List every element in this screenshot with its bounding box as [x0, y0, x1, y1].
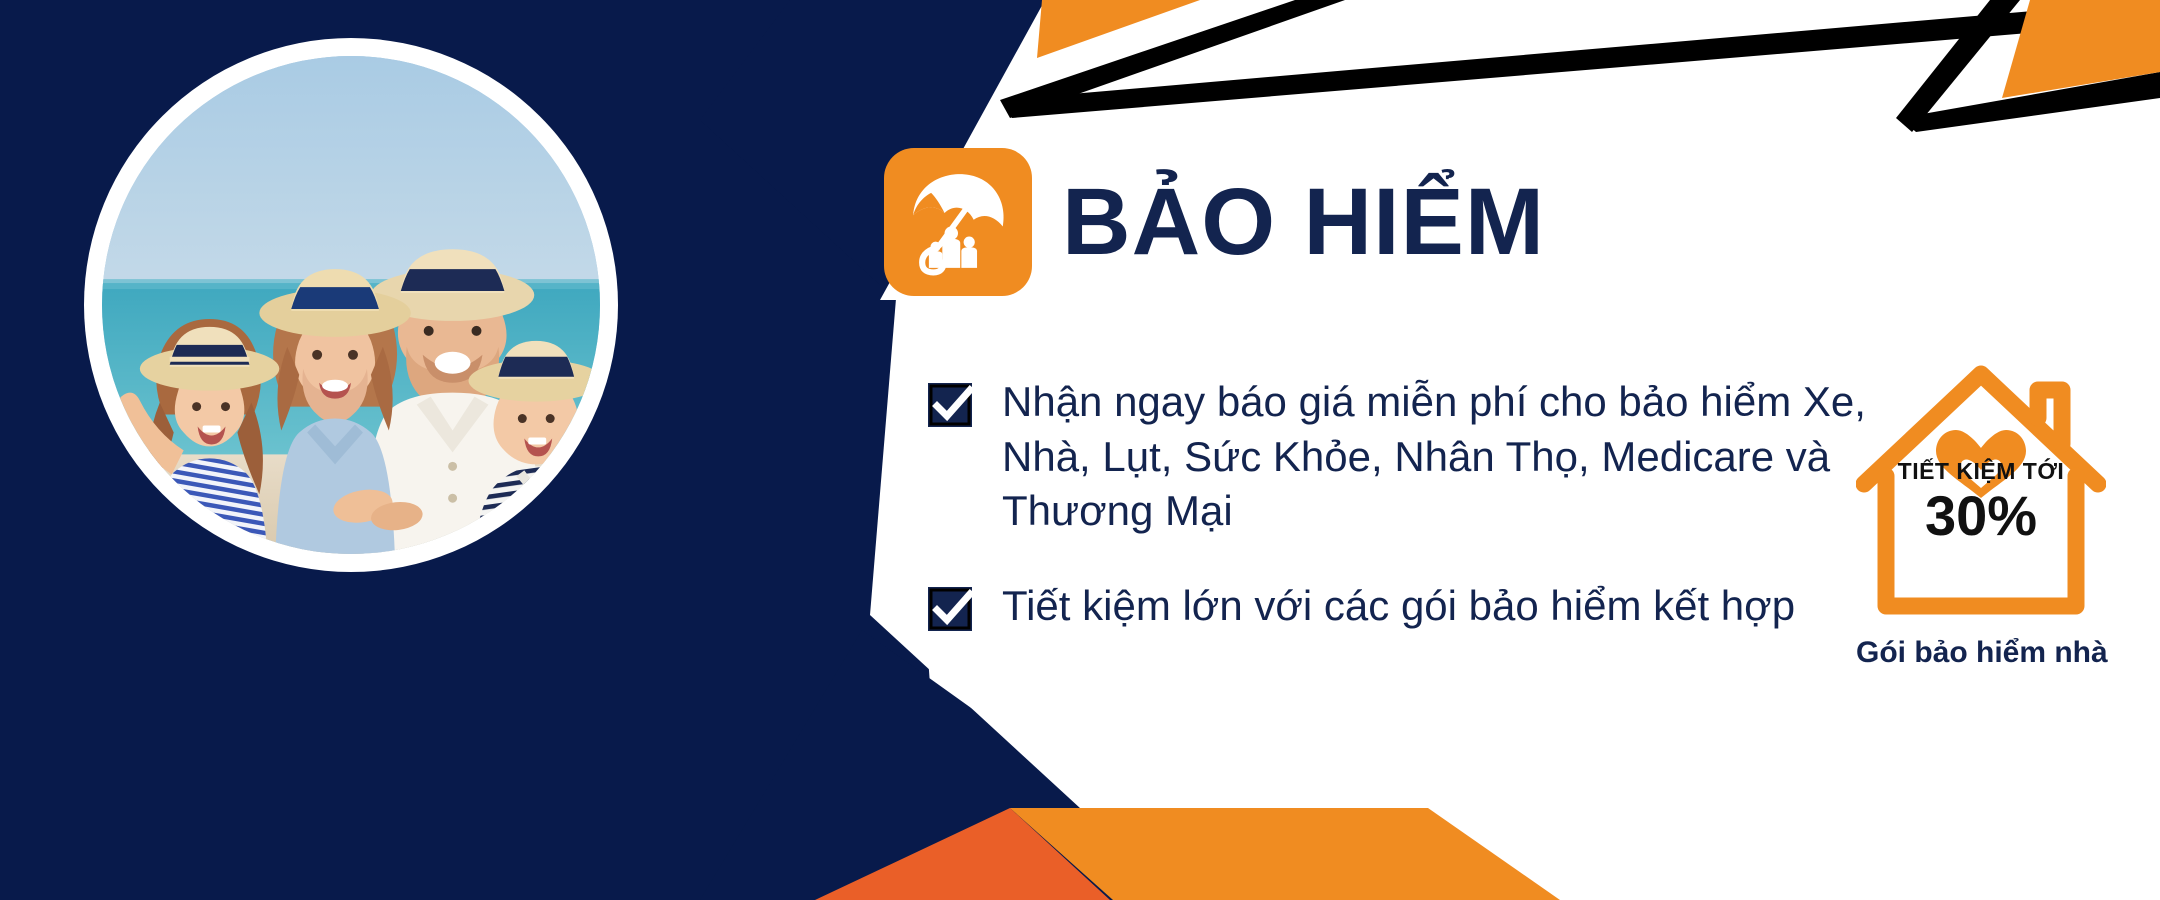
save-label: TIẾT KIỆM TỚI	[1856, 460, 2106, 483]
avatar	[102, 56, 600, 554]
brand-logo-tile	[884, 148, 1032, 296]
save-percent: 30%	[1856, 487, 2106, 546]
house-graphic: TIẾT KIỆM TỚI 30%	[1856, 352, 2106, 632]
checkbox-checked-icon	[928, 383, 976, 431]
umbrella-family-icon	[902, 166, 1014, 278]
insurance-banner: BẢO HIỂM Nhận ngay báo giá miễn phí cho …	[0, 0, 2160, 900]
family-beach-photo	[102, 56, 600, 554]
house-badge-text: TIẾT KIỆM TỚI 30%	[1856, 460, 2106, 546]
feature-bullet-list: Nhận ngay báo giá miễn phí cho bảo hiểm …	[928, 375, 1868, 635]
house-savings-badge: TIẾT KIỆM TỚI 30% Gói bảo hiểm nhà	[1856, 352, 2106, 670]
page-title: BẢO HIỂM	[1062, 175, 1545, 270]
list-item: Tiết kiệm lớn với các gói bảo hiểm kết h…	[928, 579, 1868, 635]
checkbox-checked-icon	[928, 587, 976, 635]
list-item: Nhận ngay báo giá miễn phí cho bảo hiểm …	[928, 375, 1868, 539]
bullet-text: Nhận ngay báo giá miễn phí cho bảo hiểm …	[1002, 375, 1868, 539]
house-badge-caption: Gói bảo hiểm nhà	[1856, 636, 2106, 670]
bullet-text: Tiết kiệm lớn với các gói bảo hiểm kết h…	[1002, 579, 1795, 634]
family-photo-circle	[84, 38, 618, 572]
brand-header: BẢO HIỂM	[884, 148, 1545, 296]
